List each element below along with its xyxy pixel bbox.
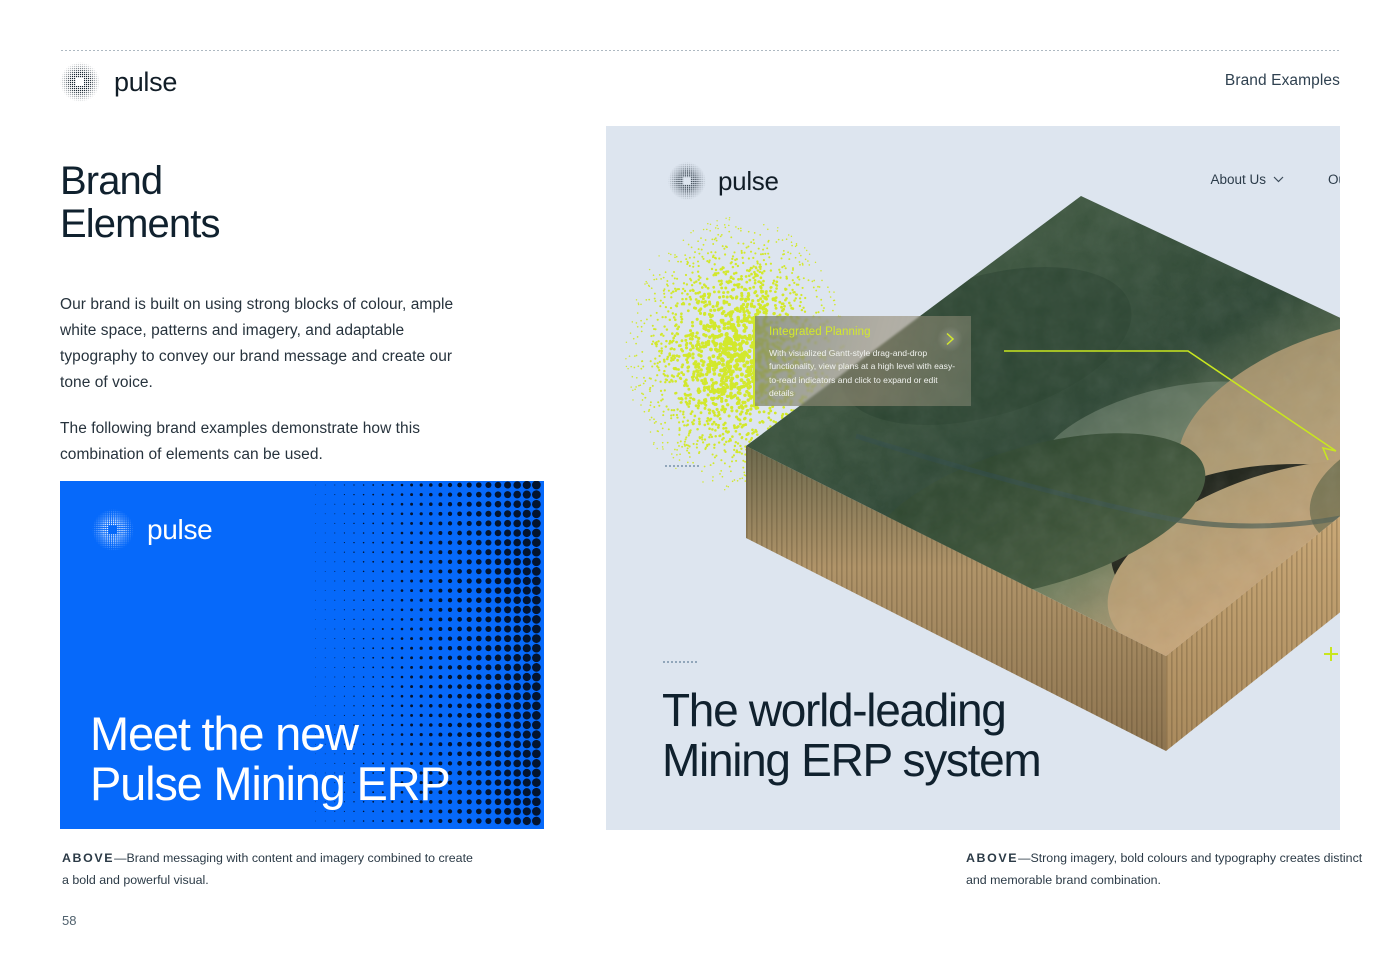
crosshair-marker <box>1324 647 1338 661</box>
showcase-nav-links: About Us Ou <box>1210 172 1340 187</box>
chevron-right-icon <box>945 332 955 346</box>
caption-dash: — <box>1018 851 1030 865</box>
feature-tooltip-card[interactable]: Integrated Planning With visualized Gant… <box>753 316 971 406</box>
nav-item-about-us[interactable]: About Us <box>1210 172 1284 187</box>
brand-guidelines-page: pulse Brand Examples Brand Elements Our … <box>0 0 1400 970</box>
pulse-halftone-mark-icon <box>60 62 100 102</box>
page-header: pulse Brand Examples <box>60 62 1340 102</box>
nav-item-label: Ou <box>1328 172 1340 187</box>
page-number: 58 <box>62 913 76 928</box>
card-brand-wordmark: pulse <box>147 516 212 544</box>
caption-right: ABOVE—Strong imagery, bold colours and t… <box>966 848 1386 891</box>
intro-paragraph-2: The following brand examples demonstrate… <box>60 416 460 468</box>
caption-label: ABOVE <box>62 851 114 865</box>
pulse-halftone-mark-icon <box>92 509 134 551</box>
website-showcase-panel: pulse About Us Ou Integrated Planning Wi… <box>606 126 1340 830</box>
page-title: Brand Elements <box>60 160 550 246</box>
tooltip-next-button[interactable] <box>937 326 963 352</box>
nav-item-label: About Us <box>1210 172 1266 187</box>
caption-dash: — <box>114 851 126 865</box>
caption-label: ABOVE <box>966 851 1018 865</box>
card-brand-lockup: pulse <box>92 509 212 551</box>
intro-paragraph-1: Our brand is built on using strong block… <box>60 292 460 396</box>
blue-brand-card: pulse Meet the new Pulse Mining ERP <box>60 481 544 829</box>
intro-copy: Our brand is built on using strong block… <box>60 292 460 468</box>
brand-wordmark: pulse <box>114 69 177 96</box>
showcase-brand-wordmark: pulse <box>718 168 779 194</box>
chevron-down-icon <box>1273 176 1284 183</box>
tooltip-title: Integrated Planning <box>769 326 959 338</box>
tooltip-body: With visualized Gantt-style drag-and-dro… <box>769 347 959 400</box>
left-column: Brand Elements Our brand is built on usi… <box>60 160 550 468</box>
caption-left: ABOVE—Brand messaging with content and i… <box>62 848 482 891</box>
showcase-headline: The world-leading Mining ERP system <box>662 685 1040 786</box>
card-headline: Meet the new Pulse Mining ERP <box>90 709 450 809</box>
showcase-navbar: pulse About Us Ou <box>668 162 1340 206</box>
section-label: Brand Examples <box>1225 72 1340 90</box>
nav-item-our[interactable]: Ou <box>1328 172 1340 187</box>
brand-lockup: pulse <box>60 62 1340 102</box>
dotted-accent-line <box>664 465 700 467</box>
dotted-accent-line <box>662 661 698 663</box>
header-dotted-rule <box>60 50 1340 51</box>
pulse-halftone-mark-icon <box>668 162 706 200</box>
